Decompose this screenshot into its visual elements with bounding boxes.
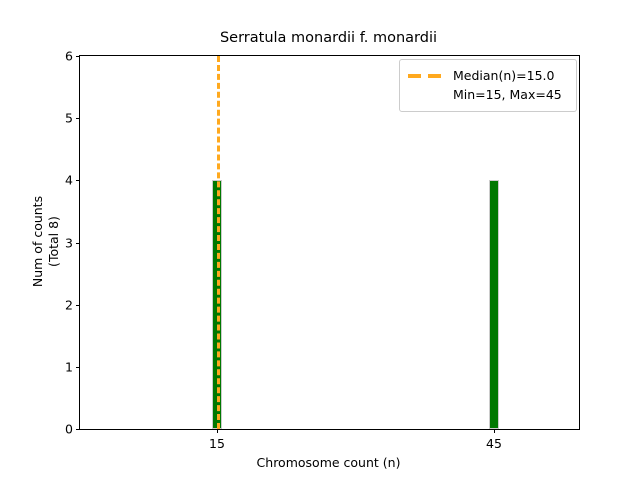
legend: Median(n)=15.0 Min=15, Max=45	[399, 59, 577, 112]
y-tick-label: 2	[65, 297, 73, 312]
legend-label: Min=15, Max=45	[453, 87, 562, 102]
x-tick-label: 45	[486, 436, 502, 451]
legend-item-minmax: Min=15, Max=45	[408, 85, 568, 104]
blank-swatch-icon	[408, 93, 444, 97]
dashed-line-icon	[408, 74, 444, 78]
legend-label: Median(n)=15.0	[453, 68, 554, 83]
x-tick-mark	[217, 429, 218, 433]
y-tick-mark	[76, 56, 80, 57]
y-tick-mark	[76, 305, 80, 306]
plot-area: 0 1 2 3 4 5 6 15	[79, 55, 580, 430]
page-title: Serratula monardii f. monardii	[79, 31, 578, 46]
y-tick-label: 4	[65, 173, 73, 188]
bar-45	[489, 180, 499, 429]
y-tick-label: 0	[65, 422, 73, 437]
y-axis-title-line2: (Total 8)	[46, 55, 64, 428]
y-tick-mark	[76, 118, 80, 119]
y-tick-mark	[76, 180, 80, 181]
y-tick-label: 3	[65, 235, 73, 250]
y-tick-mark	[76, 429, 80, 430]
y-tick-label: 6	[65, 49, 73, 64]
median-line	[217, 56, 220, 429]
chart-figure: Serratula monardii f. monardii 0 1 2 3 4…	[0, 0, 640, 480]
y-tick-mark	[76, 243, 80, 244]
y-tick-label: 5	[65, 111, 73, 126]
x-tick-label: 15	[209, 436, 225, 451]
x-tick-mark	[494, 429, 495, 433]
y-tick-label: 1	[65, 359, 73, 374]
y-tick-mark	[76, 367, 80, 368]
x-axis-title: Chromosome count (n)	[79, 455, 578, 470]
legend-item-median: Median(n)=15.0	[408, 66, 568, 85]
